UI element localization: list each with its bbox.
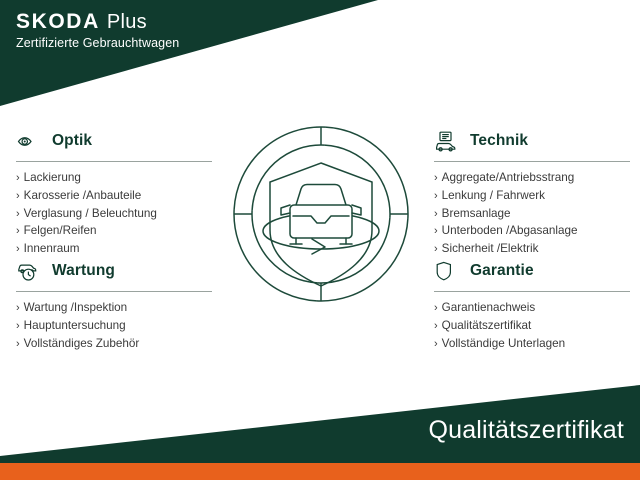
list-item: ›Aggregate/Antriebsstrang bbox=[434, 169, 630, 187]
emblem-car bbox=[281, 185, 361, 245]
section-wartung: Wartung ›Wartung /Inspektion ›Hauptunter… bbox=[16, 258, 212, 352]
list-item-label: Karosserie /Anbauteile bbox=[24, 187, 142, 205]
list-item-label: Hauptuntersuchung bbox=[24, 317, 126, 335]
section-wartung-title: Wartung bbox=[52, 262, 115, 280]
section-optik-header: Optik bbox=[16, 128, 212, 154]
footer-banner-title: Qualitätszertifikat bbox=[428, 416, 624, 445]
chevron-right-icon: › bbox=[16, 339, 20, 350]
brand-lockup: SKODA Plus Zertifizierte Gebrauchtwagen bbox=[16, 11, 179, 51]
brand-plus-wordmark: Plus bbox=[107, 12, 147, 32]
section-garantie-list: ›Garantienachweis ›Qualitätszertifikat ›… bbox=[434, 292, 630, 352]
chevron-right-icon: › bbox=[16, 303, 20, 314]
list-item-label: Aggregate/Antriebsstrang bbox=[442, 169, 575, 187]
section-technik: Technik ›Aggregate/Antriebsstrang ›Lenku… bbox=[434, 128, 630, 258]
chevron-right-icon: › bbox=[434, 226, 438, 237]
list-item-label: Verglasung / Beleuchtung bbox=[24, 205, 157, 223]
chevron-right-icon: › bbox=[16, 226, 20, 237]
shield-icon bbox=[434, 259, 460, 283]
car-service-clock-icon bbox=[16, 259, 42, 283]
brand-title-row: SKODA Plus bbox=[16, 11, 179, 32]
list-item-label: Wartung /Inspektion bbox=[24, 299, 128, 317]
list-item-label: Qualitätszertifikat bbox=[442, 317, 532, 335]
chevron-right-icon: › bbox=[16, 209, 20, 220]
accent-orange-bar bbox=[0, 463, 640, 480]
chevron-right-icon: › bbox=[16, 191, 20, 202]
brand-skoda-wordmark: SKODA bbox=[16, 11, 100, 32]
section-technik-header: Technik bbox=[434, 128, 630, 154]
list-item: ›Innenraum bbox=[16, 240, 212, 258]
chevron-right-icon: › bbox=[434, 173, 438, 184]
brand-subtitle: Zertifizierte Gebrauchtwagen bbox=[16, 37, 179, 51]
list-item: ›Vollständige Unterlagen bbox=[434, 335, 630, 353]
list-item: ›Garantienachweis bbox=[434, 299, 630, 317]
section-wartung-list: ›Wartung /Inspektion ›Hauptuntersuchung … bbox=[16, 292, 212, 352]
list-item: ›Lenkung / Fahrwerk bbox=[434, 187, 630, 205]
list-item-label: Felgen/Reifen bbox=[24, 222, 97, 240]
eye-icon bbox=[16, 129, 42, 153]
list-item-label: Lenkung / Fahrwerk bbox=[442, 187, 545, 205]
list-item: ›Bremsanlage bbox=[434, 205, 630, 223]
section-wartung-header: Wartung bbox=[16, 258, 212, 284]
section-technik-list: ›Aggregate/Antriebsstrang ›Lenkung / Fah… bbox=[434, 162, 630, 258]
list-item: ›Hauptuntersuchung bbox=[16, 317, 212, 335]
certified-vehicle-emblem bbox=[225, 118, 417, 310]
chevron-right-icon: › bbox=[434, 244, 438, 255]
list-item: ›Vollständiges Zubehör bbox=[16, 335, 212, 353]
section-optik-title: Optik bbox=[52, 132, 92, 150]
chevron-right-icon: › bbox=[16, 244, 20, 255]
car-document-icon bbox=[434, 129, 460, 153]
list-item: ›Verglasung / Beleuchtung bbox=[16, 205, 212, 223]
section-garantie-title: Garantie bbox=[470, 262, 534, 280]
list-item: ›Unterboden /Abgasanlage bbox=[434, 222, 630, 240]
list-item: ›Felgen/Reifen bbox=[16, 222, 212, 240]
list-item: ›Karosserie /Anbauteile bbox=[16, 187, 212, 205]
list-item-label: Sicherheit /Elektrik bbox=[442, 240, 539, 258]
list-item-label: Innenraum bbox=[24, 240, 80, 258]
section-technik-title: Technik bbox=[470, 132, 528, 150]
chevron-right-icon: › bbox=[434, 191, 438, 202]
list-item: ›Sicherheit /Elektrik bbox=[434, 240, 630, 258]
list-item-label: Bremsanlage bbox=[442, 205, 511, 223]
list-item: ›Qualitätszertifikat bbox=[434, 317, 630, 335]
list-item-label: Vollständige Unterlagen bbox=[442, 335, 565, 353]
section-optik-list: ›Lackierung ›Karosserie /Anbauteile ›Ver… bbox=[16, 162, 212, 258]
list-item-label: Unterboden /Abgasanlage bbox=[442, 222, 578, 240]
certificate-page: SKODA Plus Zertifizierte Gebrauchtwagen … bbox=[0, 0, 640, 480]
list-item-label: Lackierung bbox=[24, 169, 81, 187]
chevron-right-icon: › bbox=[434, 321, 438, 332]
chevron-right-icon: › bbox=[434, 339, 438, 350]
chevron-right-icon: › bbox=[434, 303, 438, 314]
chevron-right-icon: › bbox=[16, 321, 20, 332]
list-item: ›Wartung /Inspektion bbox=[16, 299, 212, 317]
section-garantie: Garantie ›Garantienachweis ›Qualitätszer… bbox=[434, 258, 630, 352]
section-garantie-header: Garantie bbox=[434, 258, 630, 284]
list-item-label: Garantienachweis bbox=[442, 299, 536, 317]
chevron-right-icon: › bbox=[434, 209, 438, 220]
section-optik: Optik ›Lackierung ›Karosserie /Anbauteil… bbox=[16, 128, 212, 258]
list-item-label: Vollständiges Zubehör bbox=[24, 335, 140, 353]
chevron-right-icon: › bbox=[16, 173, 20, 184]
list-item: ›Lackierung bbox=[16, 169, 212, 187]
